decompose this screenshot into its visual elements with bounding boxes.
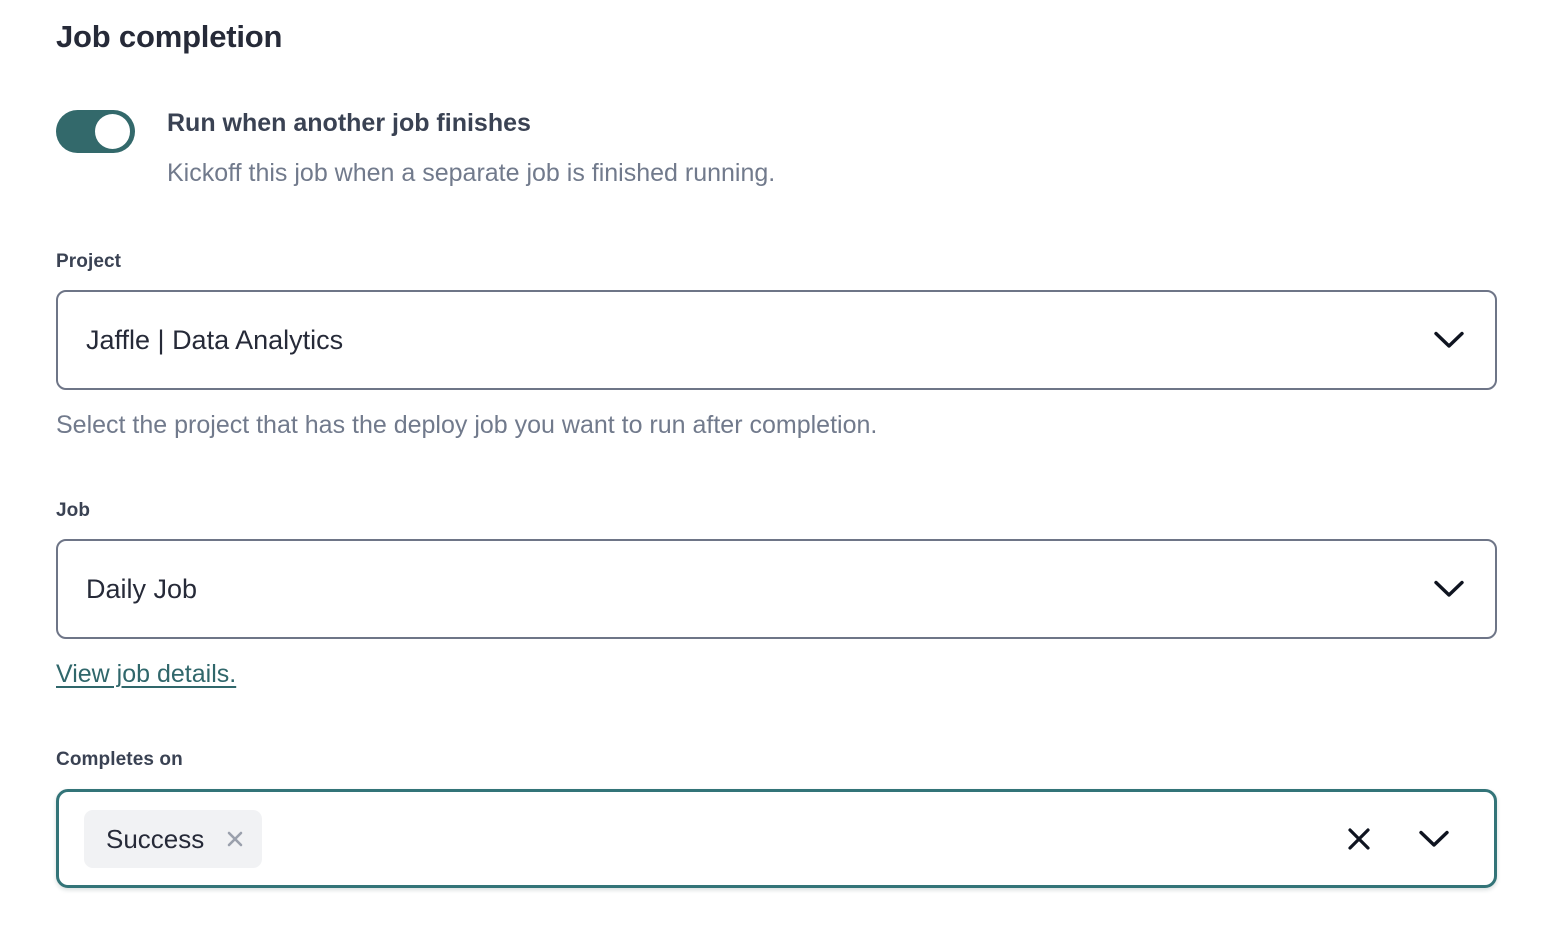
job-select-value: Daily Job [86,541,197,637]
project-helper-text: Select the project that has the deploy j… [56,408,877,442]
run-when-another-job-finishes-toggle[interactable] [56,110,135,153]
toggle-knob [95,114,130,149]
chevron-down-icon[interactable] [1429,541,1469,637]
project-select[interactable]: Jaffle | Data Analytics [56,290,1497,390]
clear-selection-icon[interactable] [1342,792,1376,885]
toggle-description: Kickoff this job when a separate job is … [167,156,775,190]
chip-label: Success [106,810,204,868]
chevron-down-icon[interactable] [1416,792,1452,885]
completes-on-label: Completes on [56,747,183,773]
page-title: Job completion [56,16,282,58]
job-label: Job [56,498,90,524]
chevron-down-icon[interactable] [1429,292,1469,388]
job-select[interactable]: Daily Job [56,539,1497,639]
selected-chip-success: Success [84,810,262,868]
job-completion-panel: Job completion Run when another job fini… [0,0,1564,936]
project-label: Project [56,249,121,275]
project-select-value: Jaffle | Data Analytics [86,292,343,388]
close-icon[interactable] [224,828,246,850]
view-job-details-link[interactable]: View job details. [56,657,236,691]
completes-on-multiselect[interactable]: Success [56,789,1497,888]
toggle-label: Run when another job finishes [167,106,531,140]
